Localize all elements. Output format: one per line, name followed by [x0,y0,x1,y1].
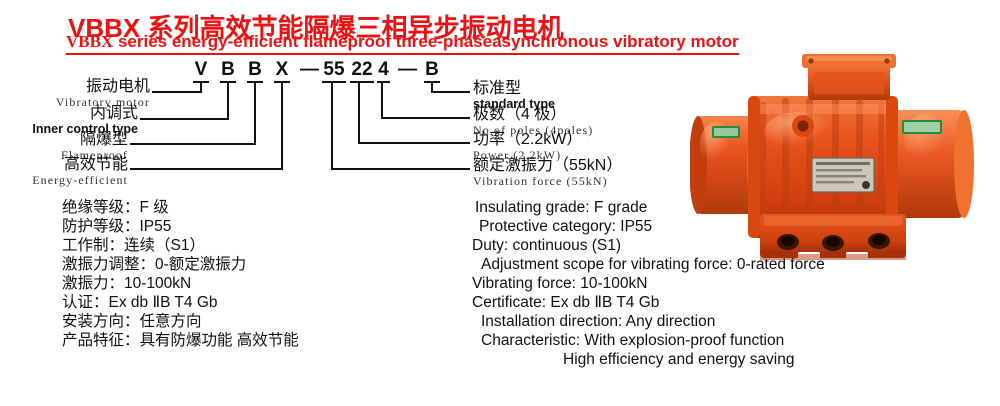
motor-base-feet [760,214,906,260]
leader-hline-b2 [130,143,256,145]
spec-cn-3: 工作制：连续（S1） [62,237,205,254]
callout-left-4: 高效节能 Energy-efficient [0,156,128,187]
motor-nameplate [812,158,874,192]
title-english-rest: series energy-efficient flameproof three… [113,32,738,51]
spec-cn-2: 防护等级：IP55 [62,218,171,235]
model-code-char-5: 55 [322,60,346,83]
leader-vline-x [281,81,283,170]
model-code-char-6: 22 [350,60,374,83]
spec-cn-8: 产品特征：具有防爆功能 高效节能 [62,332,299,349]
model-code-dash-1: — [300,60,319,80]
spec-en-8: Characteristic: With explosion-proof fun… [481,332,784,349]
callout-right-1-cn: 标准型 [473,80,555,97]
spec-cn-1: 绝缘等级：F 级 [62,199,169,216]
motor-lifting-eye [792,115,814,137]
leader-vline-power [358,81,360,144]
page-title-english: VBBX series energy-efficient flameproof … [66,32,739,55]
callout-right-4: 额定激振力（55kN） Vibration force (55kN) [473,157,622,188]
callout-right-4-cn: 额定激振力（55kN） [473,157,622,174]
leader-vline-poles [381,81,383,119]
callout-left-2-cn: 内调式 [0,105,138,122]
model-code-char-8: B [424,60,440,83]
spec-en-2: Protective category: IP55 [479,218,652,235]
spec-en-6: Certificate: Ex db ⅡB T4 Gb [472,294,659,311]
model-code-char-4: X [274,60,290,83]
spec-en-5: Vibrating force: 10-100kN [472,275,647,292]
spec-cn-6: 认证：Ex db ⅡB T4 Gb [62,294,218,311]
model-code-char-3: B [247,60,263,83]
leader-hline-poles [381,117,470,119]
model-code-dash-2: — [398,60,417,80]
callout-left-4-en: Energy-efficient [0,173,128,187]
leader-vline-b2 [254,81,256,145]
leader-hline-power [358,142,470,144]
callout-left-1-cn: 振动电机 [0,78,150,95]
leader-vline-b1 [227,81,229,120]
spec-en-9: High efficiency and energy saving [563,351,795,368]
callout-left-4-cn: 高效节能 [0,156,128,173]
title-model-prefix: VBBX [66,32,113,51]
callout-right-4-en: Vibration force (55kN) [473,174,622,188]
leader-hline-x [130,168,283,170]
model-code-char-7: 4 [377,60,390,83]
motor-junction-box [802,54,896,100]
spec-cn-7: 安装方向：任意方向 [62,313,202,330]
spec-en-1: Insulating grade: F grade [475,199,647,216]
spec-cn-4: 激振力调整：0-额定激振力 [62,256,246,273]
product-photo-vibratory-motor [690,48,992,283]
leader-hline-std [431,91,470,93]
leader-hline-v [152,91,202,93]
leader-hline-b1 [140,118,229,120]
leader-vline-force [331,81,333,170]
spec-cn-5: 激振力：10-100kN [62,275,191,292]
callout-left-3-cn: 隔爆型 [0,131,128,148]
model-code-char-1: V [193,60,209,83]
callout-right-3-cn: 功率（2.2kW） [473,131,582,148]
spec-en-7: Installation direction: Any direction [481,313,715,330]
callout-right-2-cn: 极数（4 极） [473,106,593,123]
product-spec-page: VBBX 系列高效节能隔爆三相异步振动电机 VBBX series energy… [0,0,1000,406]
spec-en-3: Duty: continuous (S1) [472,237,621,254]
leader-hline-force [331,168,470,170]
model-code-char-2: B [220,60,236,83]
